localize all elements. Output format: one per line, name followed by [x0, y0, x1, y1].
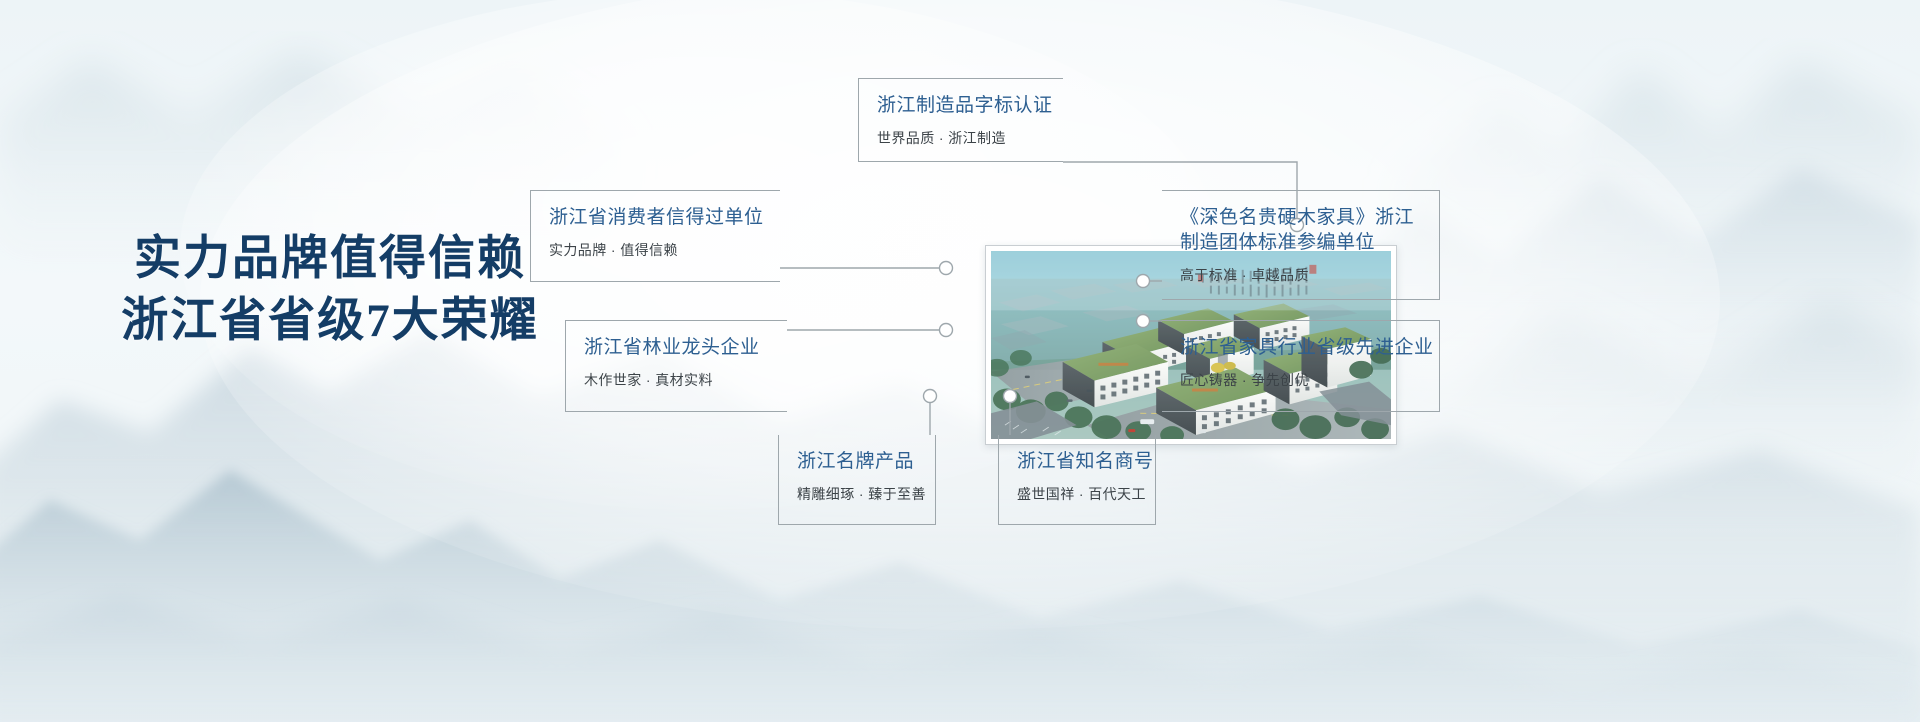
award-card-subtitle: 木作世家 · 真材实料	[584, 370, 769, 390]
award-card-title: 浙江省林业龙头企业	[584, 335, 769, 360]
award-card-subtitle: 实力品牌 · 值得信赖	[549, 240, 762, 260]
award-card-title: 浙江制造品字标认证	[877, 93, 1045, 118]
headline-line-2: 浙江省省级7大荣耀	[100, 290, 560, 352]
award-card-title: 浙江省消费者信得过单位	[549, 205, 762, 230]
award-card-title: 浙江省家具行业省级先进企业	[1180, 335, 1421, 360]
award-card-hardwood-furniture-standard[interactable]: 《深色名贵硬木家具》浙江制造团体标准参编单位 高于标准 · 卓越品质	[1162, 190, 1440, 300]
award-card-subtitle: 世界品质 · 浙江制造	[877, 128, 1045, 148]
award-card-zhejiang-famous-product[interactable]: 浙江名牌产品 精雕细琢 · 臻于至善	[778, 435, 936, 525]
award-card-subtitle: 匠心铸器 · 争先创优	[1180, 370, 1421, 390]
award-card-furniture-advanced-enterprise[interactable]: 浙江省家具行业省级先进企业 匠心铸器 · 争先创优	[1162, 320, 1440, 412]
award-card-title: 《深色名贵硬木家具》浙江制造团体标准参编单位	[1180, 205, 1421, 255]
award-card-zhejiang-manufacturing-certification[interactable]: 浙江制造品字标认证 世界品质 · 浙江制造	[858, 78, 1063, 162]
award-card-subtitle: 高于标准 · 卓越品质	[1180, 265, 1421, 285]
award-card-forestry-leading-enterprise[interactable]: 浙江省林业龙头企业 木作世家 · 真材实料	[565, 320, 787, 412]
award-card-title: 浙江省知名商号	[1017, 449, 1137, 474]
page-stage: 实力品牌值得信赖 浙江省省级7大荣耀	[0, 0, 1920, 722]
headline-line-1: 实力品牌值得信赖	[100, 228, 560, 290]
award-card-title: 浙江名牌产品	[797, 449, 917, 474]
award-card-subtitle: 盛世国祥 · 百代天工	[1017, 484, 1137, 504]
award-card-zhejiang-well-known-trade-name[interactable]: 浙江省知名商号 盛世国祥 · 百代天工	[998, 435, 1156, 525]
award-card-consumer-trusted-unit[interactable]: 浙江省消费者信得过单位 实力品牌 · 值得信赖	[530, 190, 780, 282]
award-card-subtitle: 精雕细琢 · 臻于至善	[797, 484, 917, 504]
page-title: 实力品牌值得信赖 浙江省省级7大荣耀	[100, 228, 560, 352]
